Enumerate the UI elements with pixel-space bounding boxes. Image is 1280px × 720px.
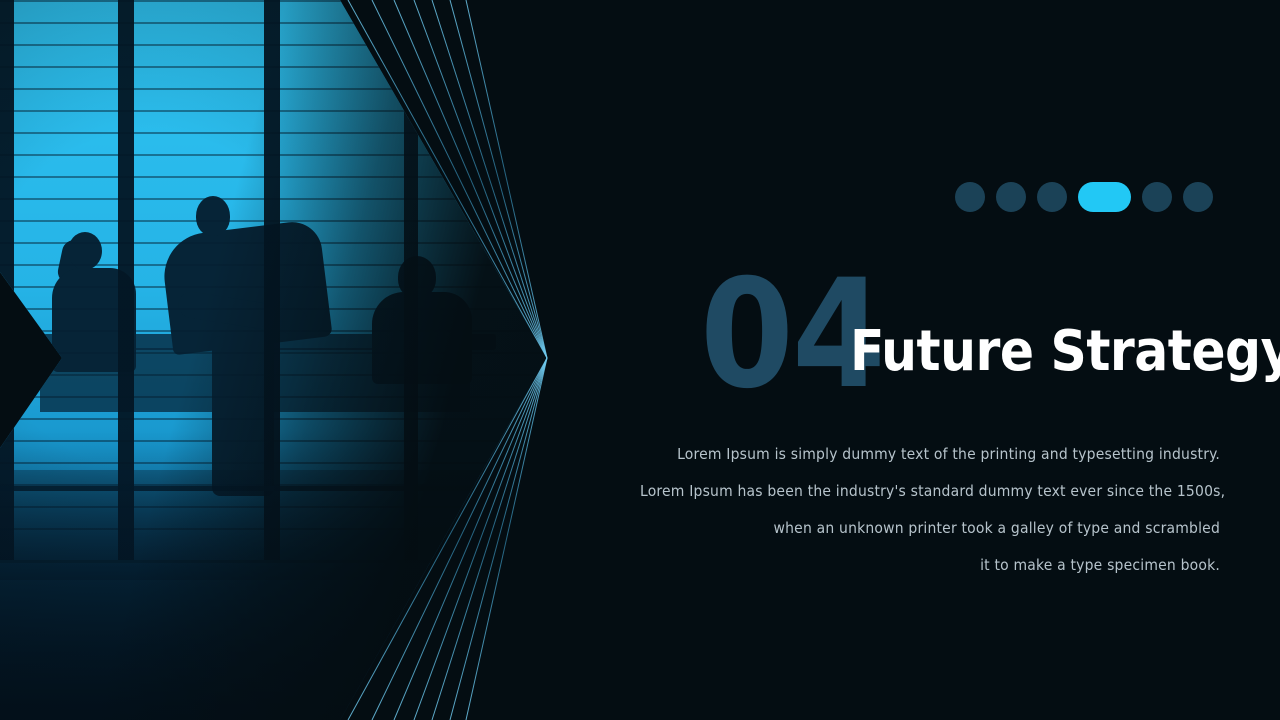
headline-block: 04 Future Strategy [640, 268, 1240, 418]
photo-dark-gradient [0, 0, 560, 720]
photo-panel [0, 0, 560, 720]
pagination-dot-3[interactable] [1037, 182, 1067, 212]
pagination-dot-4-active[interactable] [1078, 182, 1131, 212]
pagination-dot-5[interactable] [1142, 182, 1172, 212]
page-title: Future Strategy [850, 324, 1280, 380]
body-paragraph: Lorem Ipsum is simply dummy text of the … [640, 436, 1220, 584]
pagination-dot-1[interactable] [955, 182, 985, 212]
pagination-dot-6[interactable] [1183, 182, 1213, 212]
body-line-3: when an unknown printer took a galley of… [640, 510, 1220, 547]
presentation-slide: 04 Future Strategy Lorem Ipsum is simply… [0, 0, 1280, 720]
body-line-4: it to make a type specimen book. [640, 547, 1220, 584]
body-line-2: Lorem Ipsum has been the industry's stan… [640, 473, 1220, 510]
pagination-indicator[interactable] [955, 182, 1213, 212]
pagination-dot-2[interactable] [996, 182, 1026, 212]
body-line-1: Lorem Ipsum is simply dummy text of the … [640, 436, 1220, 473]
